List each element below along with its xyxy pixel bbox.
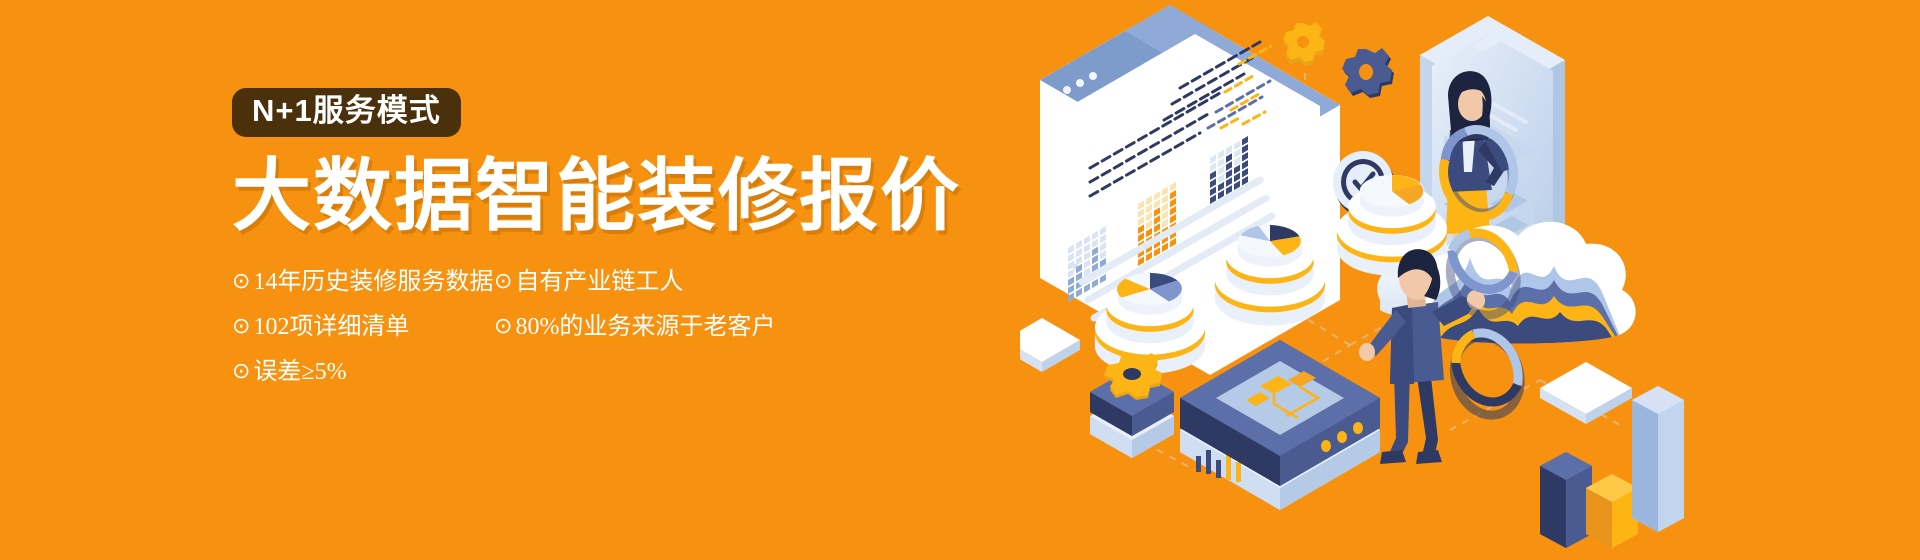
list-item-label: 自有产业链工人: [515, 264, 683, 300]
list-item: ⊙ 14年历史装修服务数据: [232, 264, 493, 300]
floating-tile-1: [1540, 362, 1632, 424]
feature-col-right: ⊙ 自有产业链工人: [494, 264, 824, 300]
promo-banner: N+1服务模式 大数据智能装修报价 ⊙ 14年历史装修服务数据 ⊙ 自有产业链工…: [0, 0, 1920, 560]
service-model-badge: N+1服务模式: [232, 88, 461, 137]
feature-col-left: ⊙ 14年历史装修服务数据: [232, 264, 494, 300]
gear-icon-navy: [1342, 48, 1394, 98]
list-item-label: 102项详细清单: [253, 309, 409, 345]
feature-col-left: ⊙ 102项详细清单: [232, 309, 494, 345]
circled-dot-icon: ⊙: [494, 315, 512, 337]
feature-row: ⊙ 误差≥5%: [232, 354, 992, 390]
circled-dot-icon: ⊙: [232, 315, 250, 337]
circled-dot-icon: ⊙: [232, 360, 250, 382]
feature-list: ⊙ 14年历史装修服务数据 ⊙ 自有产业链工人 ⊙ 102项详细清单: [232, 264, 992, 390]
circled-dot-icon: ⊙: [494, 270, 512, 292]
feature-col-right: ⊙ 80%的业务来源于老客户: [494, 309, 824, 345]
feature-row: ⊙ 102项详细清单 ⊙ 80%的业务来源于老客户: [232, 309, 992, 345]
bar-group-3d: [1540, 386, 1684, 548]
list-item: ⊙ 80%的业务来源于老客户: [494, 309, 775, 345]
floating-tile-2: [1020, 318, 1080, 372]
list-item-label: 80%的业务来源于老客户: [515, 309, 775, 345]
hero-illustration: [1020, 0, 1720, 560]
page-title: 大数据智能装修报价: [232, 153, 992, 238]
list-item: ⊙ 自有产业链工人: [494, 264, 683, 300]
list-item-label: 误差≥5%: [253, 354, 346, 390]
circled-dot-icon: ⊙: [232, 270, 250, 292]
list-item-label: 14年历史装修服务数据: [253, 264, 493, 300]
banner-copy: N+1服务模式 大数据智能装修报价 ⊙ 14年历史装修服务数据 ⊙ 自有产业链工…: [232, 88, 992, 399]
list-item: ⊙ 误差≥5%: [232, 354, 347, 390]
feature-col-left: ⊙ 误差≥5%: [232, 354, 494, 390]
feature-row: ⊙ 14年历史装修服务数据 ⊙ 自有产业链工人: [232, 264, 992, 300]
list-item: ⊙ 102项详细清单: [232, 309, 409, 345]
gear-icon-yellow-small: [1283, 22, 1325, 66]
